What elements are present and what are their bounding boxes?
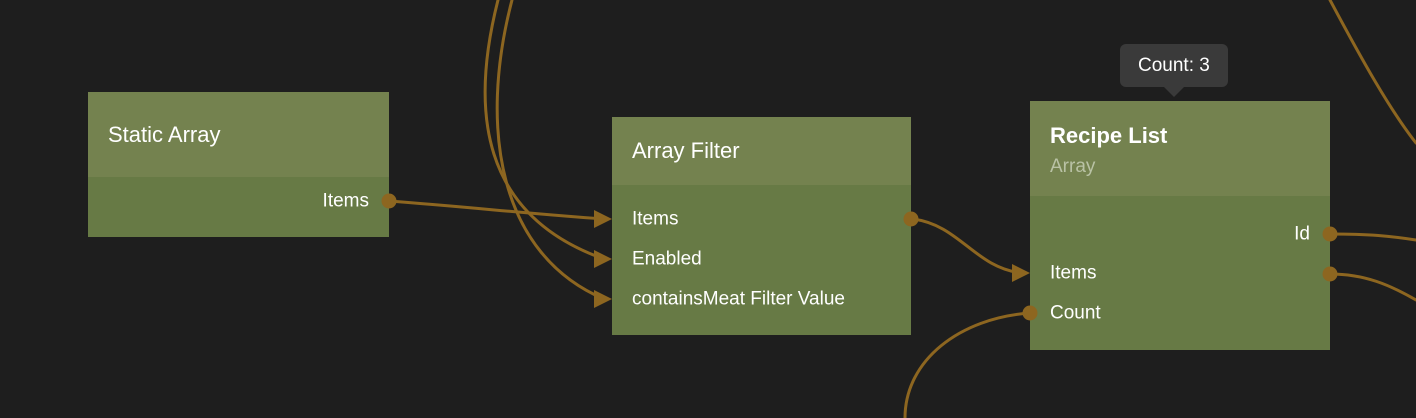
offscreen-topright-passthrough[interactable] — [1330, 0, 1416, 143]
static-items-to-filter-items[interactable] — [389, 201, 604, 219]
filter-items-arrowhead — [594, 210, 612, 228]
output-port-label-static-array-0[interactable]: Items — [323, 192, 369, 211]
output-port-dot-static-array-0[interactable] — [382, 194, 397, 209]
input-port-label-recipe-list-0[interactable]: Items — [1050, 264, 1096, 283]
count-tooltip: Count: 3 — [1120, 44, 1228, 87]
input-port-label-array-filter-0[interactable]: Items — [632, 210, 678, 229]
filter-contains-arrowhead — [594, 290, 612, 308]
node-static-array[interactable]: Static ArrayItems — [88, 92, 389, 237]
count-tooltip-label: Count: 3 — [1138, 55, 1210, 76]
input-port-label-array-filter-2[interactable]: containsMeat Filter Value — [632, 290, 845, 309]
node-body-array-filter: ItemsEnabledcontainsMeat Filter Value — [612, 185, 911, 335]
offscreen-top-to-filter-contains[interactable] — [497, 0, 604, 299]
recipe-items-arrowhead — [1012, 264, 1030, 282]
output-port-dot-array-filter-0[interactable] — [904, 212, 919, 227]
offscreen-bottom-to-recipe-count[interactable] — [905, 313, 1030, 418]
node-recipe-list[interactable]: Recipe ListArrayItemsCountId — [1030, 101, 1330, 350]
node-title-static-array: Static Array — [108, 124, 220, 146]
node-title-array-filter: Array Filter — [632, 140, 740, 162]
node-title-recipe-list: Recipe List — [1050, 125, 1167, 147]
output-port-label-recipe-list-0[interactable]: Id — [1294, 225, 1310, 244]
tooltip-pointer-icon — [1163, 86, 1185, 97]
offscreen-top-to-filter-enabled[interactable] — [485, 0, 604, 259]
node-subtitle-recipe-list: Array — [1050, 157, 1095, 176]
filter-out-to-recipe-items[interactable] — [913, 219, 1022, 273]
recipe-id-to-offscreen-right[interactable] — [1330, 234, 1416, 240]
node-body-recipe-list: ItemsCountId — [1030, 196, 1330, 350]
input-port-label-array-filter-1[interactable]: Enabled — [632, 250, 702, 269]
output-port-dot-recipe-list-1[interactable] — [1323, 267, 1338, 282]
node-graph-canvas[interactable]: Static ArrayItemsArray FilterItemsEnable… — [0, 0, 1416, 418]
output-port-dot-recipe-list-0[interactable] — [1323, 227, 1338, 242]
filter-enabled-arrowhead — [594, 250, 612, 268]
input-port-label-recipe-list-1[interactable]: Count — [1050, 304, 1101, 323]
recipe-out2-to-offscreen-right[interactable] — [1330, 274, 1416, 300]
node-header-static-array[interactable]: Static Array — [88, 92, 389, 177]
node-header-recipe-list[interactable]: Recipe ListArray — [1030, 101, 1330, 196]
node-header-array-filter[interactable]: Array Filter — [612, 117, 911, 185]
input-port-dot-recipe-list-1[interactable] — [1023, 306, 1038, 321]
node-array-filter[interactable]: Array FilterItemsEnabledcontainsMeat Fil… — [612, 117, 911, 335]
node-body-static-array: Items — [88, 177, 389, 237]
